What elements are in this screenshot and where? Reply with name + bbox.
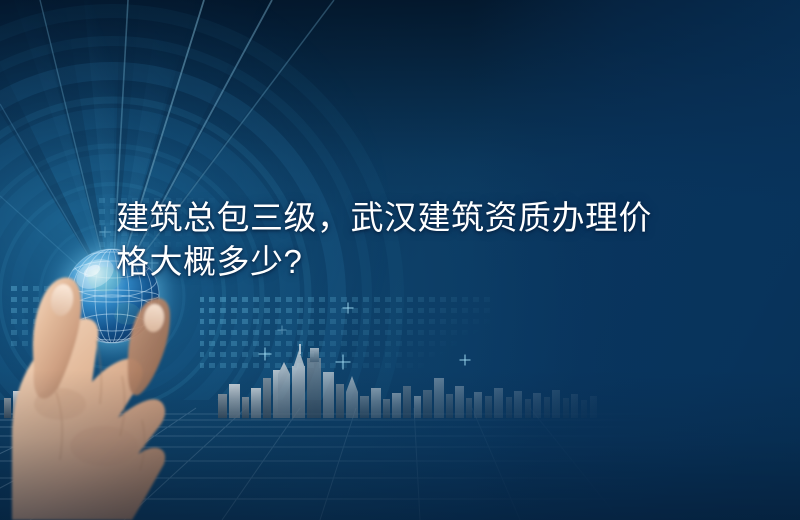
promo-banner: 建筑总包三级，武汉建筑资质办理价格大概多少? (0, 0, 800, 520)
background-bottom-vignette (0, 370, 800, 520)
page-title: 建筑总包三级，武汉建筑资质办理价格大概多少? (116, 196, 676, 284)
